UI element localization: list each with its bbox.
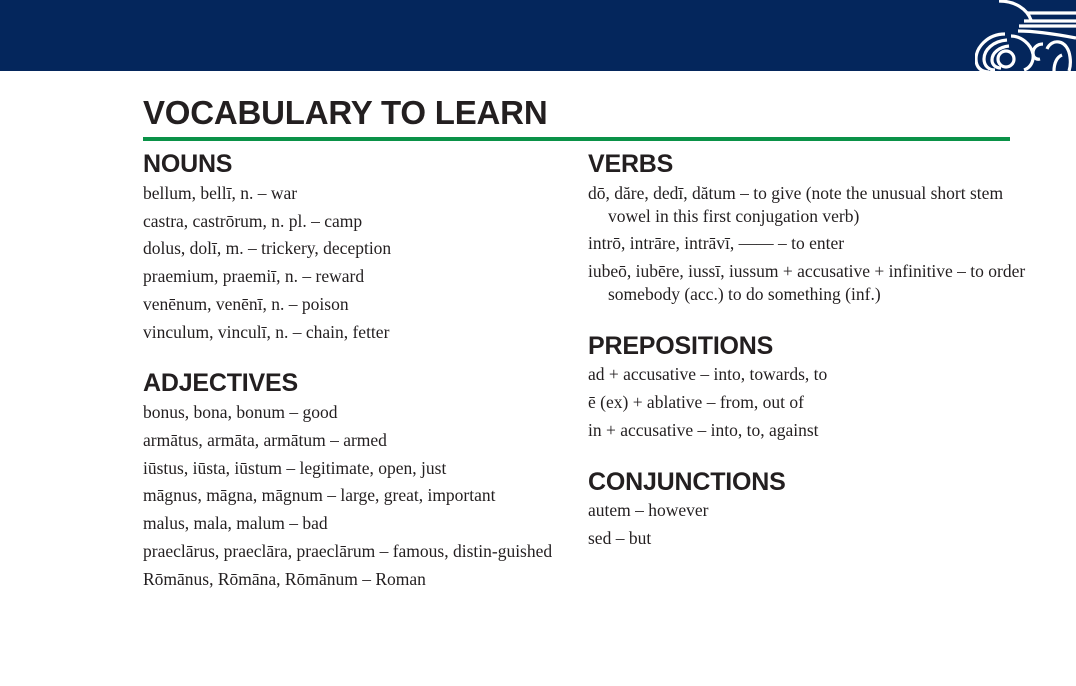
list-item: castra, castrōrum, n. pl. – camp — [143, 210, 563, 233]
right-column: VERBS dō, dăre, dedī, dătum – to give (n… — [588, 150, 1010, 608]
list-item: malus, mala, malum – bad — [143, 512, 563, 535]
list-item: dolus, dolī, m. – trickery, deception — [143, 237, 563, 260]
list-item: sed – but — [588, 527, 1028, 550]
list-item: iubeō, iubēre, iussī, iussum + accusativ… — [588, 260, 1028, 306]
conjunction-entry-list: autem – however sed – but — [588, 499, 1010, 550]
top-banner — [0, 0, 1076, 71]
left-column: NOUNS bellum, bellī, n. – war castra, ca… — [143, 150, 588, 608]
page-title: VOCABULARY TO LEARN — [143, 96, 1010, 131]
list-item: iūstus, iūsta, iūstum – legitimate, open… — [143, 457, 563, 480]
adjective-entry-list: bonus, bona, bonum – good armātus, armāt… — [143, 401, 588, 590]
title-underline-rule — [143, 137, 1010, 141]
list-item: praeclārus, praeclāra, praeclārum – famo… — [143, 540, 563, 563]
noun-entry-list: bellum, bellī, n. – war castra, castrōru… — [143, 182, 588, 344]
section-heading-prepositions: PREPOSITIONS — [588, 332, 1010, 361]
section-heading-verbs: VERBS — [588, 150, 1010, 179]
list-item: dō, dăre, dedī, dătum – to give (note th… — [588, 182, 1028, 228]
list-item: armātus, armāta, armātum – armed — [143, 429, 563, 452]
section-verbs: VERBS dō, dăre, dedī, dătum – to give (n… — [588, 150, 1010, 306]
list-item: māgnus, māgna, māgnum – large, great, im… — [143, 484, 563, 507]
preposition-entry-list: ad + accusative – into, towards, to ē (e… — [588, 363, 1010, 441]
title-block: VOCABULARY TO LEARN — [143, 96, 1010, 141]
section-heading-nouns: NOUNS — [143, 150, 588, 179]
list-item: in + accusative – into, to, against — [588, 419, 1028, 442]
vocabulary-columns: NOUNS bellum, bellī, n. – war castra, ca… — [143, 150, 1010, 608]
verb-entry-list: dō, dăre, dedī, dătum – to give (note th… — [588, 182, 1010, 306]
list-item: ad + accusative – into, towards, to — [588, 363, 1028, 386]
list-item: bonus, bona, bonum – good — [143, 401, 563, 424]
list-item: autem – however — [588, 499, 1028, 522]
section-prepositions: PREPOSITIONS ad + accusative – into, tow… — [588, 332, 1010, 442]
section-nouns: NOUNS bellum, bellī, n. – war castra, ca… — [143, 150, 588, 343]
list-item: vinculum, vinculī, n. – chain, fetter — [143, 321, 563, 344]
list-item: Rōmānus, Rōmāna, Rōmānum – Roman — [143, 568, 563, 591]
section-adjectives: ADJECTIVES bonus, bona, bonum – good arm… — [143, 369, 588, 590]
section-heading-adjectives: ADJECTIVES — [143, 369, 588, 398]
page-content: VOCABULARY TO LEARN NOUNS bellum, bellī,… — [0, 71, 1076, 686]
section-conjunctions: CONJUNCTIONS autem – however sed – but — [588, 468, 1010, 550]
list-item: intrō, intrāre, intrāvī, —— – to enter — [588, 232, 1028, 255]
list-item: praemium, praemiī, n. – reward — [143, 265, 563, 288]
list-item: bellum, bellī, n. – war — [143, 182, 563, 205]
ionic-column-capital-icon — [975, 0, 1076, 71]
list-item: ē (ex) + ablative – from, out of — [588, 391, 1028, 414]
list-item: venēnum, venēnī, n. – poison — [143, 293, 563, 316]
section-heading-conjunctions: CONJUNCTIONS — [588, 468, 1010, 497]
